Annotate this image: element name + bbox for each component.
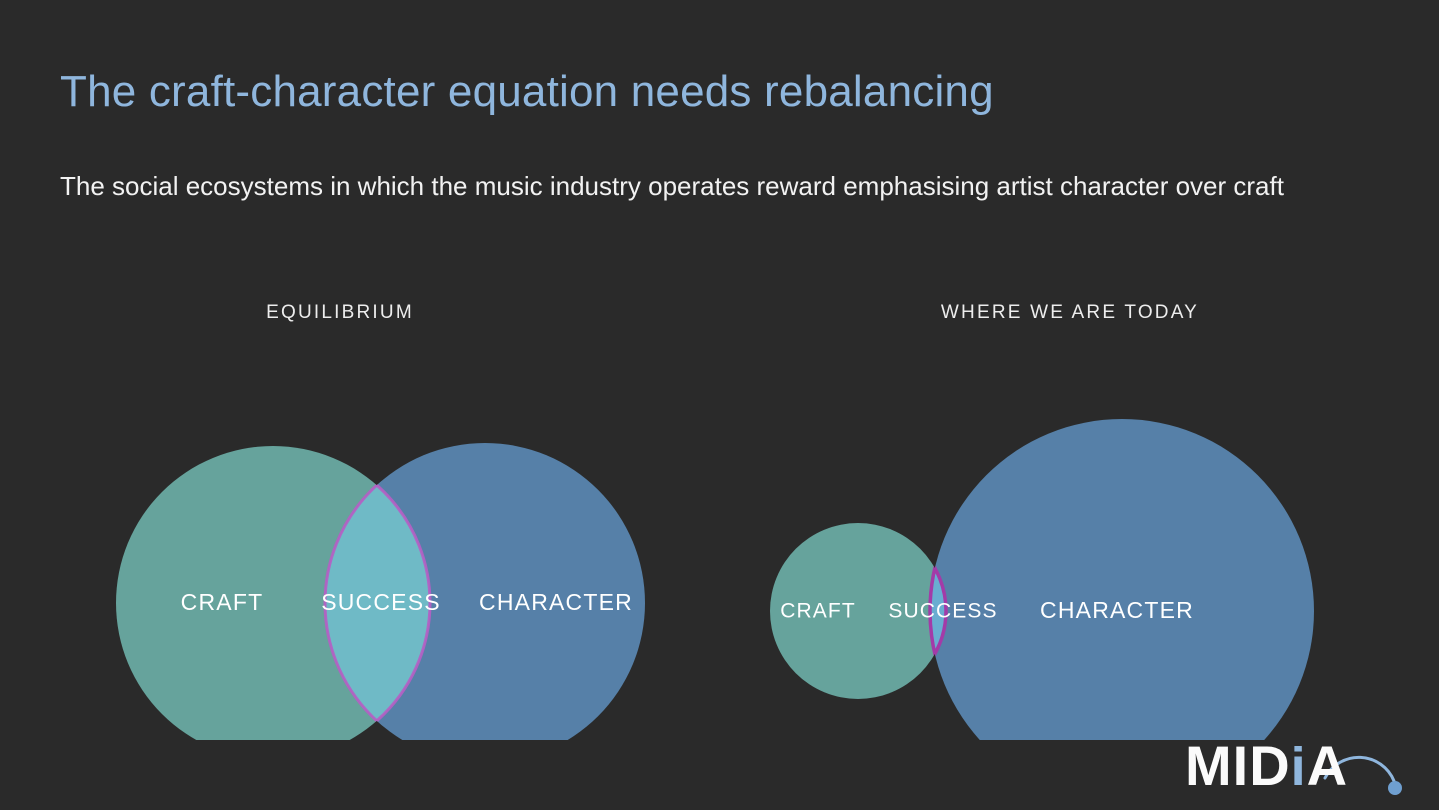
venn-label-craft-today: CRAFT	[780, 600, 856, 623]
venn-caption-today: WHERE WE ARE TODAY	[740, 302, 1400, 324]
slide-subtitle: The social ecosystems in which the music…	[60, 168, 1340, 205]
venn-svg-equilibrium: CRAFT SUCCESS CHARACTER	[60, 340, 700, 740]
venn-diagrams-container: EQUILIBRIUM	[0, 280, 1439, 750]
venn-label-success-today: SUCCESS	[888, 600, 997, 623]
venn-diagram-today: WHERE WE ARE TODAY	[740, 280, 1400, 750]
page-title: The craft-character equation needs rebal…	[60, 67, 994, 117]
venn-diagram-equilibrium: EQUILIBRIUM	[60, 280, 700, 750]
venn-label-character-today: CHARACTER	[1040, 597, 1194, 623]
logo-text-i: i	[1291, 737, 1307, 797]
venn-caption-equilibrium: EQUILIBRIUM	[20, 302, 660, 324]
logo-text-mid: MID	[1185, 734, 1291, 797]
venn-label-success-equilibrium: SUCCESS	[321, 589, 441, 615]
slide-canvas: The craft-character equation needs rebal…	[0, 0, 1439, 810]
midia-logo: MIDiA	[1185, 726, 1417, 800]
logo-wordmark: MIDiA	[1185, 738, 1348, 794]
venn-circle-character-today	[930, 419, 1314, 740]
venn-label-character-equilibrium: CHARACTER	[479, 589, 633, 615]
venn-label-craft-equilibrium: CRAFT	[181, 589, 264, 615]
venn-svg-today: CRAFT SUCCESS CHARACTER	[740, 340, 1400, 740]
logo-text-a: A	[1307, 734, 1348, 797]
